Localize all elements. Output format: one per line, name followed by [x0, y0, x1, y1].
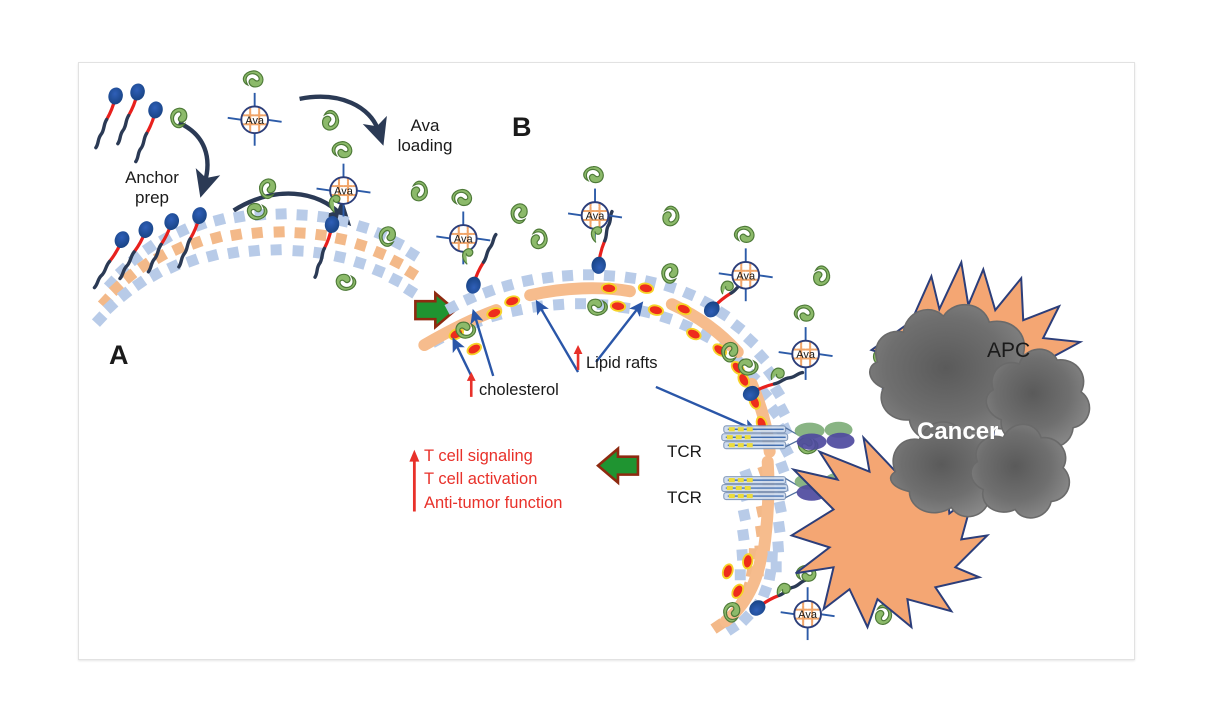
outcome-item: Anti-tumor function [424, 492, 562, 515]
lipid-anchor-icon [136, 100, 165, 165]
panel-b-group [379, 167, 1090, 659]
tcr-lower-label: TCR [667, 488, 702, 508]
ava-nanoparticle-text: Ava [736, 270, 756, 282]
tcr-upper-label: TCR [667, 442, 702, 462]
panel-a-label: A [109, 340, 129, 372]
ava-loading-label: Ava loading [389, 116, 461, 156]
outcome-item: T cell signaling [424, 445, 562, 468]
free-anchor-group [96, 82, 165, 165]
curved-process-arrow-icon [300, 97, 379, 131]
lipid-raft-band-icon [764, 462, 769, 552]
ava-nanoparticle-text: Ava [798, 609, 818, 621]
outcome-list: T cell signaling T cell activation Anti-… [424, 445, 562, 515]
cholesterol-molecule-icon [720, 562, 736, 581]
red-increase-arrow-icon [467, 372, 476, 397]
ava-nanoparticle-text: Ava [796, 349, 816, 361]
cholesterol-label: cholesterol [479, 381, 559, 400]
figure-canvas: AvaAvaAvaAvaAvaAvaAva Anchor prep Ava lo… [0, 0, 1221, 704]
outcome-item: T cell activation [424, 468, 562, 491]
cholesterol-molecule-icon [464, 340, 484, 358]
cancer-label: Cancer [917, 418, 998, 446]
ava-nanoparticle-text: Ava [586, 210, 606, 222]
apc-label: APC [987, 339, 1030, 364]
anchor-prep-label: Anchor prep [104, 168, 200, 208]
blue-leader-line-icon [656, 387, 750, 428]
panel-b-label: B [512, 112, 532, 144]
lipid-anchor-icon [315, 215, 341, 280]
ava-nanoparticle-text: Ava [245, 115, 265, 127]
green-block-arrow-icon [598, 449, 638, 483]
ava-nanoparticle-text: Ava [334, 186, 354, 198]
blue-leader-line-icon [540, 307, 578, 372]
lipid-rafts-label: Lipid rafts [586, 354, 658, 373]
ava-nanoparticle-text: Ava [454, 233, 474, 245]
red-increase-arrow-icon [409, 450, 419, 512]
figure-frame: AvaAvaAvaAvaAvaAvaAva Anchor prep Ava lo… [78, 62, 1135, 660]
cancer-cell-cluster-icon [870, 305, 1090, 518]
